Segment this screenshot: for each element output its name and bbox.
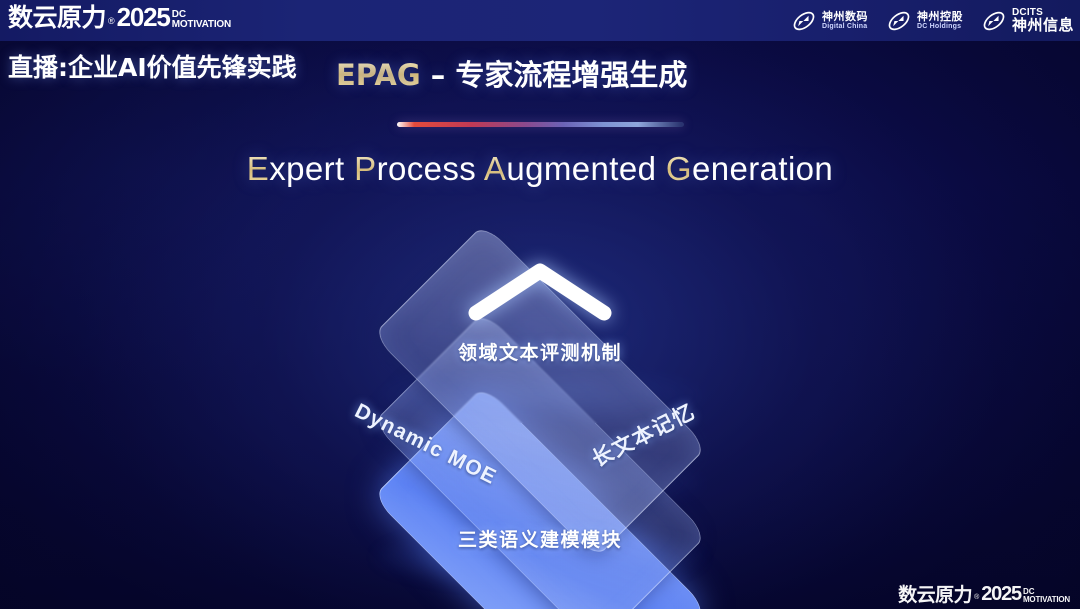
layer-top-label: 领域文本评测机制 — [280, 338, 800, 365]
subtitle-part-5: ugmented — [506, 150, 666, 187]
watermark-dc-line2: MOTIVATION — [1023, 596, 1070, 604]
logo-digital-china: 神州数码 Digital China — [791, 8, 868, 34]
subtitle-part-6: G — [666, 150, 692, 187]
page-title-cn: – 专家流程增强生成 — [421, 58, 688, 92]
watermark-year: 2025 — [981, 584, 1021, 605]
logo-dc-holdings: 神州控股 DC Holdings — [886, 8, 963, 34]
layer-stack-diagram: 三类语义建模模块 Dynamic MOE 长文本记忆 领域文本评测机制 — [280, 215, 800, 575]
slide-stage: 数云原力 ® 2025 DC MOTIVATION 神州数码 Digital C… — [0, 0, 1080, 609]
subtitle-part-4: A — [484, 150, 506, 187]
logo-dcits-text: DCITS 神州信息 — [1012, 8, 1074, 34]
watermark-registered-mark: ® — [974, 590, 979, 605]
logo-digital-china-text: 神州数码 Digital China — [822, 12, 868, 31]
chevron-up-icon — [466, 261, 614, 323]
logo-cn-0: 神州数码 — [822, 12, 868, 24]
watermark-cn: 数云原力 — [898, 585, 972, 605]
subtitle-part-3: rocess — [377, 150, 484, 187]
subtitle-part-0: E — [247, 150, 269, 187]
swirl-logo-icon — [791, 8, 817, 34]
logo-dc-holdings-text: 神州控股 DC Holdings — [917, 12, 963, 31]
logo-en-1: DC Holdings — [917, 23, 963, 30]
layer-bottom-label: 三类语义建模模块 — [280, 525, 800, 552]
logo-en-0: Digital China — [822, 23, 868, 30]
subtitle-part-7: eneration — [692, 150, 833, 187]
brand-registered-mark: ® — [108, 11, 115, 31]
page-title: EPAG – 专家流程增强生成 — [336, 52, 687, 94]
watermark-dc: DC MOTIVATION — [1023, 588, 1070, 605]
subtitle-part-2: P — [354, 150, 376, 187]
header-bar: 数云原力 ® 2025 DC MOTIVATION 神州数码 Digital C… — [0, 0, 1080, 41]
swirl-logo-icon — [886, 8, 912, 34]
brand-logo: 数云原力 ® 2025 DC MOTIVATION — [8, 4, 231, 31]
logo-cn-2: 神州信息 — [1012, 18, 1074, 34]
logo-cn-1: 神州控股 — [917, 12, 963, 24]
brand-logo-year: 2025 — [117, 4, 170, 31]
page-subtitle: Expert Process Augmented Generation — [0, 150, 1080, 188]
footer-watermark: 数云原力 ® 2025 DC MOTIVATION — [898, 584, 1070, 605]
brand-logo-cn: 数云原力 — [8, 5, 106, 31]
logo-dcits: DCITS 神州信息 — [981, 8, 1074, 34]
brand-logo-dc: DC MOTIVATION — [172, 10, 231, 31]
title-divider — [397, 122, 684, 127]
brand-dc-line2: MOTIVATION — [172, 20, 231, 30]
page-title-acronym: EPAG — [336, 58, 421, 92]
swirl-logo-icon — [981, 8, 1007, 34]
partner-logos: 神州数码 Digital China 神州控股 DC Holdings — [791, 6, 1074, 36]
live-title: 直播:企业AI价值先锋实践 — [8, 48, 297, 84]
subtitle-part-1: xpert — [269, 150, 354, 187]
